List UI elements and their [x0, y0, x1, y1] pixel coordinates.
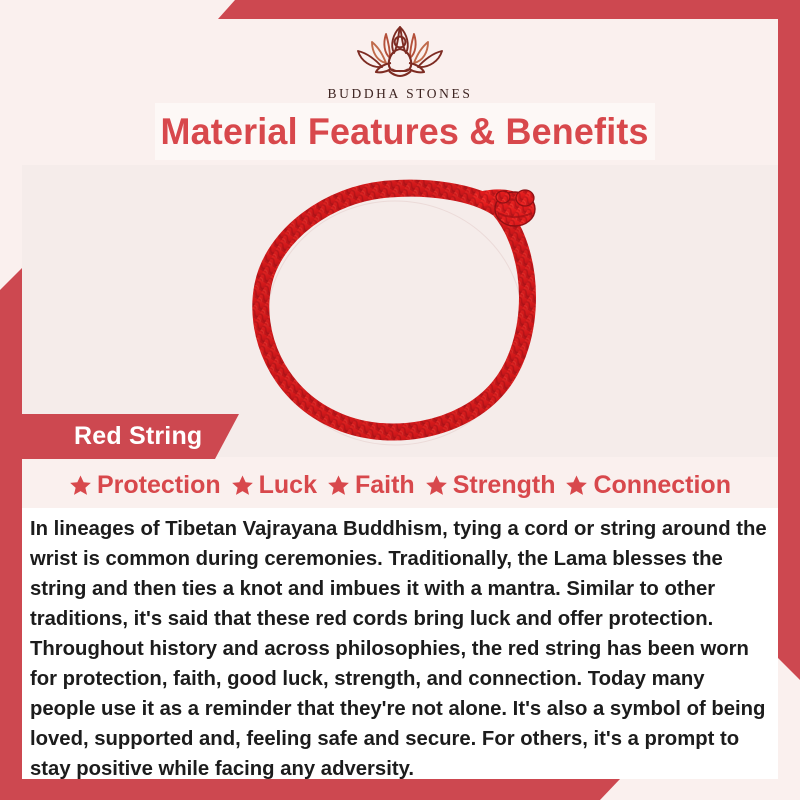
sliding-knot: [495, 190, 535, 226]
feature-label: Luck: [259, 471, 317, 500]
decorative-band-top: [218, 0, 800, 19]
material-label-banner: Red String: [22, 414, 239, 459]
decorative-band-left: [0, 268, 22, 800]
product-photo: [22, 165, 778, 457]
red-braided-string-bracelet-icon: [237, 173, 567, 453]
feature-item: Protection: [69, 471, 221, 500]
brand-logo: BUDDHA STONES: [0, 20, 800, 102]
infographic-page: BUDDHA STONES Material Features & Benefi…: [0, 0, 800, 800]
feature-item: Strength: [425, 471, 556, 500]
decorative-band-right: [778, 0, 800, 680]
title-banner: Material Features & Benefits: [155, 103, 655, 160]
feature-item: Connection: [565, 471, 731, 500]
description-text: In lineages of Tibetan Vajrayana Buddhis…: [22, 508, 778, 784]
star-icon: [69, 474, 92, 497]
feature-item: Faith: [327, 471, 415, 500]
brand-wordmark: BUDDHA STONES: [328, 86, 473, 102]
feature-label: Strength: [453, 471, 556, 500]
feature-item: Luck: [231, 471, 317, 500]
feature-list: Protection Luck Faith Strength Connectio…: [22, 466, 778, 504]
star-icon: [327, 474, 350, 497]
feature-label: Faith: [355, 471, 415, 500]
feature-label: Connection: [593, 471, 731, 500]
page-title: Material Features & Benefits: [161, 111, 649, 153]
star-icon: [231, 474, 254, 497]
description-block: In lineages of Tibetan Vajrayana Buddhis…: [22, 508, 778, 779]
lotus-meditation-icon: [334, 20, 466, 82]
star-icon: [425, 474, 448, 497]
feature-label: Protection: [97, 471, 221, 500]
star-icon: [565, 474, 588, 497]
material-label: Red String: [74, 422, 202, 451]
